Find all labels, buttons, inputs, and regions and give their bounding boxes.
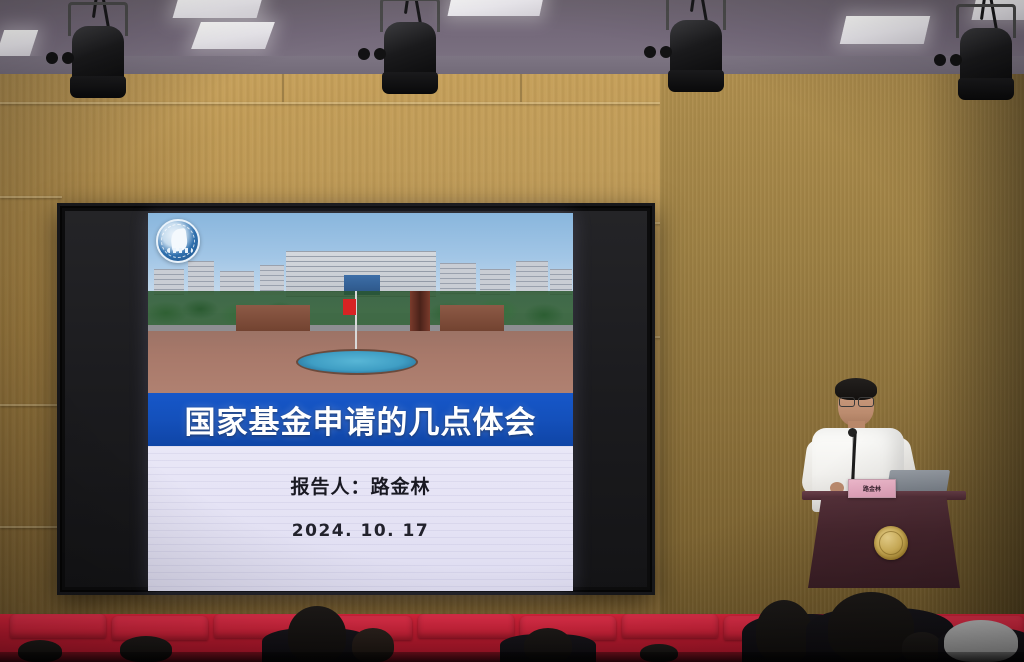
seat[interactable] <box>112 616 208 640</box>
slide-date: 2024. 10. 17 <box>292 521 429 541</box>
ceiling-light-panel <box>191 22 275 49</box>
gate-building-right <box>440 305 504 333</box>
spotlight-knob <box>358 48 370 60</box>
spotlight-knob <box>660 46 672 58</box>
skyline-building <box>188 261 214 295</box>
national-flag <box>343 299 356 315</box>
ceiling-light-panel <box>447 0 544 16</box>
wall-seam <box>0 102 660 104</box>
speaker-and-podium: 路金林 <box>800 378 972 588</box>
spotlight-lens <box>668 70 724 92</box>
ceiling-light-panel <box>0 30 38 56</box>
auditorium-scene: 国家基金申请的几点体会 报告人：路金林 2024. 10. 17 路金林 <box>0 0 1024 662</box>
wall-seam <box>282 74 284 102</box>
presenter-line: 报告人：路金林 <box>290 472 430 499</box>
spotlight-knob <box>644 46 656 58</box>
wall-seam <box>0 196 62 198</box>
university-emblem-icon <box>156 219 200 263</box>
glasses-icon <box>839 397 874 405</box>
spotlight-knob <box>950 54 962 66</box>
gate-pillar <box>410 291 430 335</box>
wall-seam <box>0 526 60 528</box>
slide-title: 国家基金申请的几点体会 <box>185 397 537 442</box>
spotlight-knob <box>46 52 58 64</box>
spotlight-knob <box>934 54 946 66</box>
skyline-building <box>516 261 548 295</box>
ceiling-light-panel <box>840 16 930 44</box>
slide-title-bar: 国家基金申请的几点体会 <box>148 393 573 446</box>
foreground-shadow <box>0 652 1024 662</box>
nameplate: 路金林 <box>848 479 896 498</box>
nameplate-text: 路金林 <box>863 484 881 493</box>
spotlight-knob <box>374 48 386 60</box>
ceiling-light-panel <box>173 0 264 18</box>
spotlight-knob <box>62 52 74 64</box>
ceiling <box>0 0 1024 80</box>
slide-body: 报告人：路金林 2024. 10. 17 <box>148 446 573 591</box>
seat[interactable] <box>418 614 514 638</box>
spotlight-lens <box>958 78 1014 100</box>
projection-screen[interactable]: 国家基金申请的几点体会 报告人：路金林 2024. 10. 17 <box>57 203 655 595</box>
campus-photo <box>148 213 573 393</box>
spotlight-lens <box>70 76 126 98</box>
campus-fountain <box>296 349 418 375</box>
spotlight-lens <box>382 72 438 94</box>
wall-seam <box>520 74 522 102</box>
presentation-slide[interactable]: 国家基金申请的几点体会 报告人：路金林 2024. 10. 17 <box>148 213 573 591</box>
audience-area <box>0 588 1024 662</box>
wall-seam <box>0 404 60 406</box>
seat[interactable] <box>622 614 718 638</box>
emblem-wave-shape <box>167 248 193 253</box>
seat[interactable] <box>10 614 106 638</box>
gate-building-left <box>236 305 310 333</box>
institution-seal-icon <box>874 526 908 560</box>
